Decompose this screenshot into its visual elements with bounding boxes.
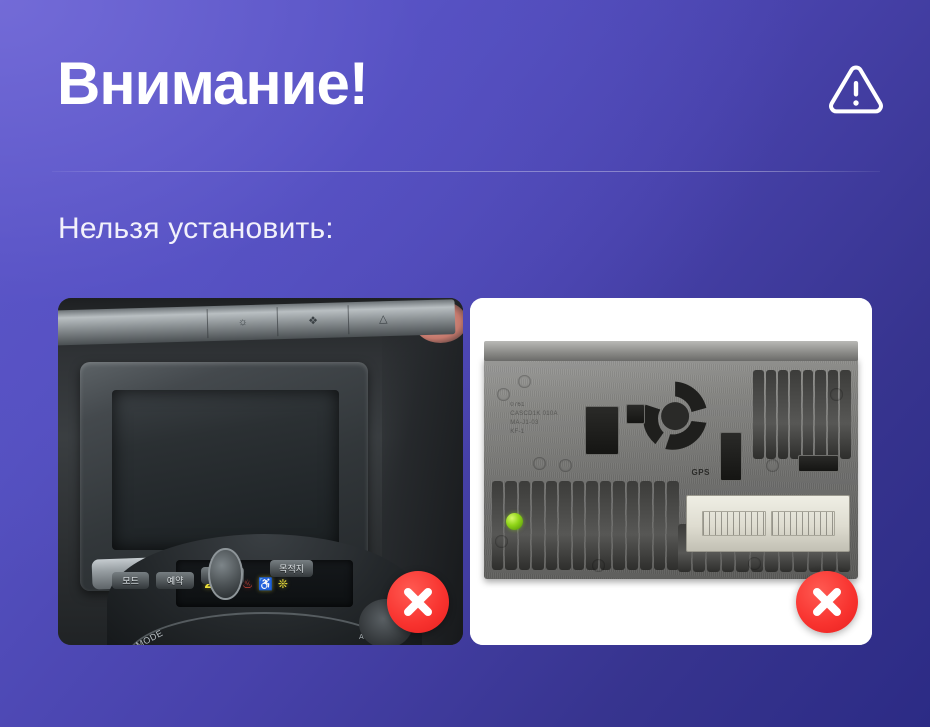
screw-mid-right: [766, 459, 779, 472]
antenna-port: [585, 406, 619, 455]
cross-icon: [796, 571, 858, 633]
seat-airflow-icon: ♿: [258, 577, 273, 591]
page-title: Внимание!: [57, 52, 368, 115]
defrost-rear-icon: ☼: [207, 307, 278, 338]
status-badge: [796, 571, 858, 633]
small-connector-port: [626, 404, 645, 424]
button-destination[interactable]: 목적지: [270, 560, 313, 577]
cross-icon: [387, 571, 449, 633]
head-unit-chassis: 0761CASCD1K 010AMA-J1-03KF-1 GPS: [484, 357, 858, 579]
connector-block-a: [702, 511, 766, 537]
screw-top-left-2: [497, 388, 510, 401]
fan-cutout: [634, 375, 716, 451]
air-flow-icon: ❖: [277, 305, 348, 336]
screw-top-left: [518, 375, 531, 388]
button-reserve[interactable]: 예약: [156, 572, 193, 589]
chassis-top-rail: [484, 341, 858, 361]
button-mode[interactable]: 모드: [112, 572, 149, 589]
screw-mid-left: [533, 457, 546, 470]
heatsink-fins-top-right: [753, 370, 850, 459]
slide-background: Внимание! Нельзя установить: ☼ ❖ △ 모드: [0, 0, 930, 727]
subtitle: Нельзя установить:: [58, 212, 334, 246]
chassis-etched-text: 0761CASCD1K 010AMA-J1-03KF-1: [510, 401, 558, 437]
warning-triangle-icon: [824, 58, 888, 122]
header-divider: [52, 171, 880, 172]
screw-bottom-right: [748, 557, 761, 570]
gps-antenna-port: [720, 432, 742, 481]
screw-mid-left-2: [559, 459, 572, 472]
gps-label: GPS: [692, 468, 710, 477]
head-unit-screen: [112, 390, 339, 550]
connector-block-b: [771, 511, 835, 537]
wiring-harness-connector: [686, 495, 850, 553]
screw-top-right: [830, 388, 843, 401]
head-unit-rear-photo: 0761CASCD1K 010AMA-J1-03KF-1 GPS: [470, 298, 872, 645]
screw-bottom-center: [592, 559, 605, 572]
aux-port: [798, 455, 839, 473]
fan-icon: ❊: [278, 577, 288, 591]
volume-knob[interactable]: [208, 548, 243, 601]
status-badge: [387, 571, 449, 633]
hazard-icon: △: [347, 303, 418, 334]
car-dashboard-photo: ☼ ❖ △ 모드 예약 현위치 목적지 24.5° ♨ ♿: [58, 298, 463, 645]
